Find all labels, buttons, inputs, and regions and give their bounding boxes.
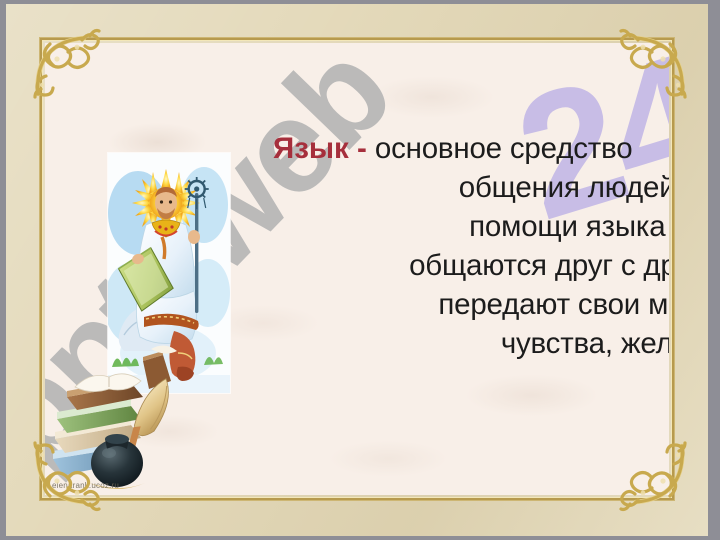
body-line-3: общаются друг с другом,	[267, 246, 669, 285]
body-line-2: помощи языка люди	[267, 207, 669, 246]
source-watermark-text: elenarank.ucoz.ru	[52, 481, 119, 490]
books-inkwell-quill-graphic	[47, 343, 195, 493]
body-line-0: основное средство	[375, 132, 633, 165]
body-line-5: чувства, желания.	[267, 324, 669, 363]
slide-body-text: Язык - основное средство общения людей. …	[267, 129, 669, 363]
lead-word: Язык -	[273, 132, 367, 165]
body-line-4: передают свои мысли,	[267, 285, 669, 324]
presentation-slide: 24 ppt4web	[0, 0, 720, 540]
slide-content-panel: 24 ppt4web	[45, 43, 669, 495]
body-line-1: общения людей. При	[267, 168, 669, 207]
